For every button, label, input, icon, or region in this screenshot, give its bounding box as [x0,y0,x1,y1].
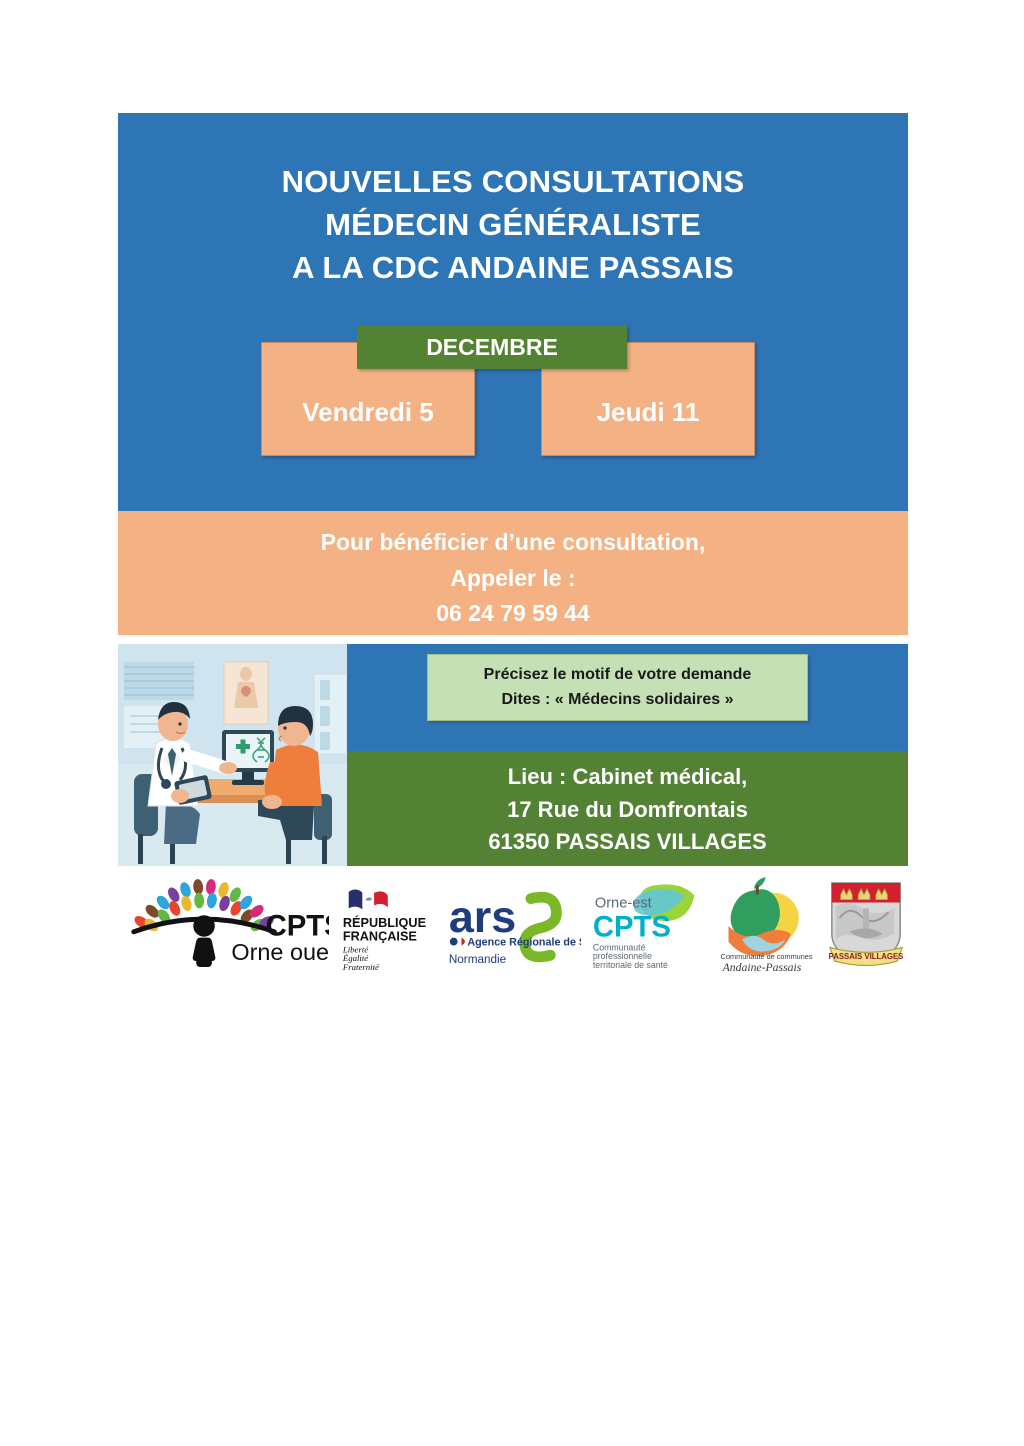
month-banner: DECEMBRE [357,325,627,369]
ars-region: Normandie [449,953,506,966]
pv-banner-text: PASSAIS VILLAGES [829,952,904,961]
ars-normandie-icon: ars Agence Régionale de Santé Normandie [441,878,582,970]
french-flag-icon [349,890,388,910]
call-line-1: Pour bénéficier d’une consultation, [118,525,908,561]
andaine-passais-apple-icon: Communauté de communes Andaine-Passais [707,874,818,974]
header-band: NOUVELLES CONSULTATIONS MÉDECIN GÉNÉRALI… [118,113,908,511]
ars-sub: Agence Régionale de Santé [467,936,581,948]
title-line-1: NOUVELLES CONSULTATIONS [118,161,908,204]
passais-villages-coat-of-arms-icon: PASSAIS VILLAGES [824,874,908,974]
cptsoe-top: Orne-est [595,895,652,911]
call-line-2: Appeler le : [118,561,908,597]
cpts-orne-est-icon: Orne-est CPTS Communauté professionnelle… [587,877,700,971]
poster: NOUVELLES CONSULTATIONS MÉDECIN GÉNÉRALI… [118,113,908,976]
rf-line-2: FRANÇAISE [343,930,417,944]
ars-main: ars [449,891,516,942]
date-label-vendredi: Vendredi 5 [302,397,434,428]
ccap-sub: Communauté de communes [720,952,812,961]
logo-cpts-orne-ouest: CPTS Orne ouest [122,878,329,970]
place-line-2: 17 Rue du Domfrontais [347,794,908,827]
logo-passais-villages: PASSAIS VILLAGES [824,874,908,974]
cptsoe-sub-3: territoriale de santé [593,960,668,970]
partner-logos-row: CPTS Orne ouest RÉPUBLIQUE FRANÇAISE Lib… [118,872,908,976]
logo-cpts-orne-ouest-main: CPTS [266,910,329,943]
place-line-1: Lieu : Cabinet médical, [347,761,908,794]
cpts-orne-ouest-icon: CPTS Orne ouest [122,878,329,970]
logo-ars-normandie: ars Agence Régionale de Santé Normandie [441,878,582,970]
motif-line-1: Précisez le motif de votre demande [484,663,752,688]
date-label-jeudi: Jeudi 11 [597,397,700,428]
call-band: Pour bénéficier d’une consultation, Appe… [118,511,908,635]
republique-francaise-icon: RÉPUBLIQUE FRANÇAISE Liberté Égalité Fra… [337,877,433,971]
middle-section: Précisez le motif de votre demande Dites… [118,644,908,866]
motif-line-2: Dites : « Médecins solidaires » [501,688,733,713]
title-line-3: A LA CDC ANDAINE PASSAIS [118,247,908,290]
ccap-main: Andaine-Passais [721,961,801,974]
place-line-3: 61350 PASSAIS VILLAGES [347,826,908,859]
rf-motto-3: Fraternité [342,962,380,971]
phone-number: 06 24 79 59 44 [118,596,908,632]
info-column: Précisez le motif de votre demande Dites… [347,644,908,866]
motif-box: Précisez le motif de votre demande Dites… [427,654,808,721]
consultation-illustration [118,644,347,866]
logo-cpts-orne-ouest-sub: Orne ouest [231,939,329,965]
rf-line-1: RÉPUBLIQUE [343,915,426,930]
logo-communaute-communes-andaine-passais: Communauté de communes Andaine-Passais [707,874,818,974]
date-row: Vendredi 5 Jeudi 11 DECEMBRE [118,325,908,465]
logo-cpts-orne-est: Orne-est CPTS Communauté professionnelle… [587,877,700,971]
title-line-2: MÉDECIN GÉNÉRALISTE [118,204,908,247]
page-title: NOUVELLES CONSULTATIONS MÉDECIN GÉNÉRALI… [118,161,908,289]
doctor-patient-scene-icon [118,644,347,866]
place-band: Lieu : Cabinet médical, 17 Rue du Domfro… [347,751,908,866]
cptsoe-main: CPTS [593,911,671,944]
logo-republique-francaise: RÉPUBLIQUE FRANÇAISE Liberté Égalité Fra… [337,877,433,971]
